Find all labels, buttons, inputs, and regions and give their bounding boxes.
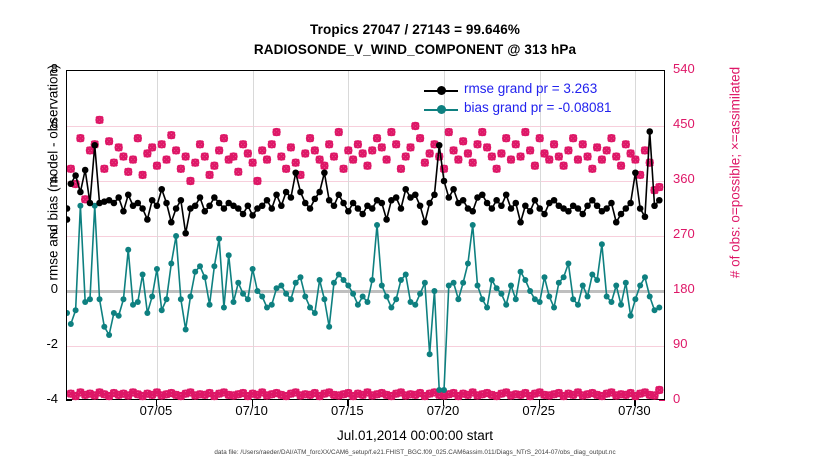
y-tick-label-left: -4 [18,391,58,406]
plot-area [66,70,665,400]
y-tick-label-left: 6 [18,116,58,131]
chart-title-line1: Tropics 27047 / 27143 = 99.646% [0,22,830,37]
x-axis-label: Jul.01,2014 00:00:00 start [0,428,830,443]
legend-label-bias: bias grand pr = -0.08081 [464,100,611,115]
y-tick-label-right: 270 [673,226,715,241]
y-tick-label-left: -2 [18,336,58,351]
series-obs_possible [68,117,663,203]
y-tick-label-right: 90 [673,336,715,351]
legend-item-bias: bias grand pr = -0.08081 [424,100,656,119]
data-series-layer [67,71,666,401]
series-rmse [67,128,663,236]
y-tick-label-left: 0 [18,281,58,296]
legend-item-rmse: rmse grand pr = 3.263 [424,81,656,100]
y-axis-label-right: # of obs: o=possible; ×=assimilated [728,28,743,318]
y-tick-label-right: 0 [673,391,715,406]
y-tick-label-left: 2 [18,226,58,241]
chart-title-line2: RADIOSONDE_V_WIND_COMPONENT @ 313 hPa [0,42,830,57]
y-tick-label-left: 8 [18,61,58,76]
y-tick-label-right: 540 [673,61,715,76]
series-bias [67,203,662,393]
series-obs_assimilated [68,387,663,400]
y-tick-label-right: 450 [673,116,715,131]
legend-marker-bias [437,105,446,114]
y-tick-label-right: 360 [673,171,715,186]
legend: rmse grand pr = 3.263 bias grand pr = -0… [424,81,656,119]
y-tick-label-right: 180 [673,281,715,296]
legend-marker-rmse [437,86,446,95]
data-file-footer: data file: /Users/raeder/DAI/ATM_forcXX/… [0,449,830,456]
plot-figure: Tropics 27047 / 27143 = 99.646% RADIOSON… [0,0,830,470]
y-tick-label-left: 4 [18,171,58,186]
legend-label-rmse: rmse grand pr = 3.263 [464,81,597,96]
